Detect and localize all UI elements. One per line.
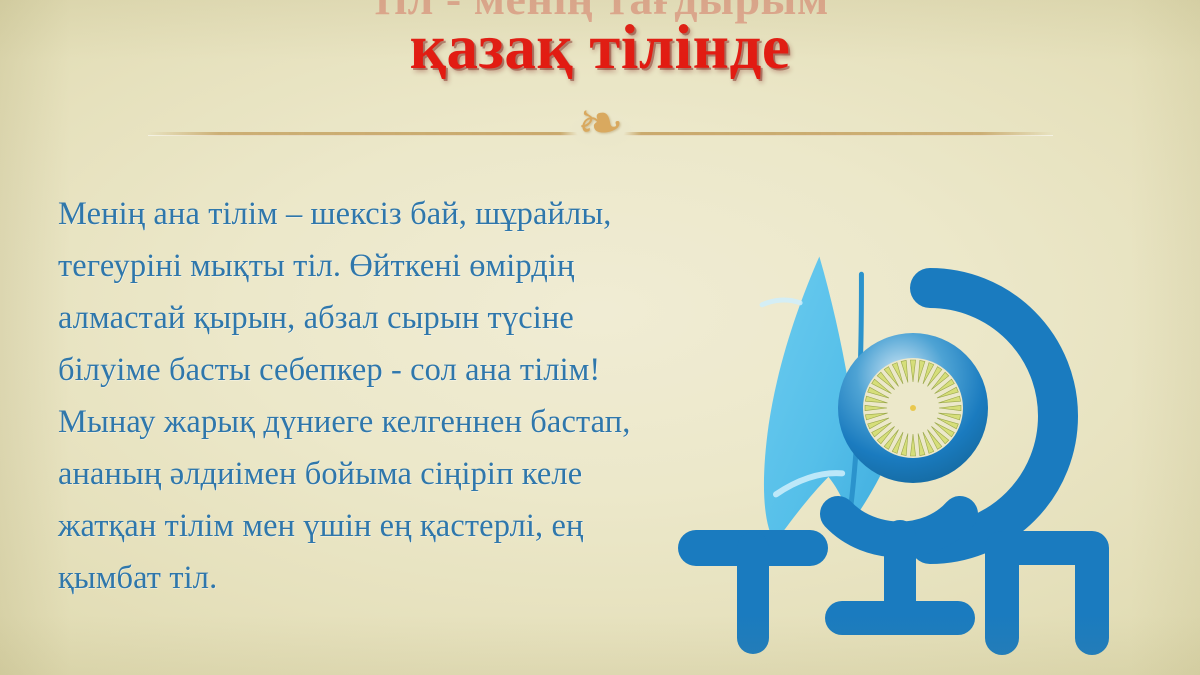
slide-canvas: тіл - менің тағдырым қазақ тілінде ❧ Мен… — [0, 0, 1200, 675]
til-logo — [660, 218, 1130, 663]
sun-with-rays-icon — [838, 333, 988, 483]
letter-el — [1002, 548, 1092, 638]
ornamental-divider: ❧ — [148, 123, 1053, 127]
letter-i — [838, 514, 960, 618]
til-wordmark — [696, 514, 1092, 638]
til-logo-artwork — [660, 218, 1130, 663]
floral-heart-ornament-icon: ❧ — [559, 96, 642, 152]
letter-te — [696, 548, 810, 638]
page-title: қазақ тілінде — [0, 16, 1200, 79]
body-paragraph: Менің ана тілім – шексіз бай, шұрайлы, т… — [58, 188, 646, 604]
sun-core-dot — [910, 405, 916, 411]
